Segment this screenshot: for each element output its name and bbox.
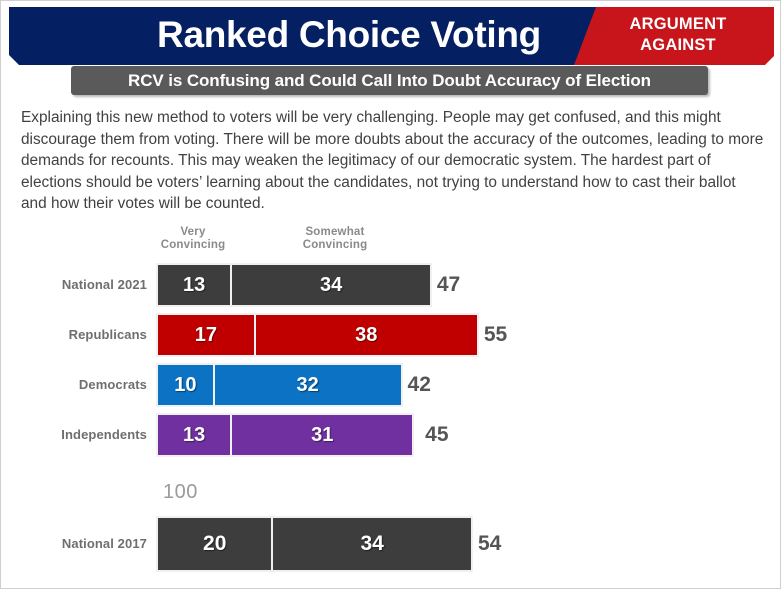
- row-total-label: 45: [420, 413, 448, 457]
- chart-row: Republicans173855: [1, 313, 781, 363]
- stacked-bar: 1331: [156, 413, 414, 457]
- chart-row: National 2017203454: [1, 516, 781, 572]
- argument-against-badge: ARGUMENT AGAINST: [574, 7, 774, 65]
- stacked-bar: 2034: [156, 516, 473, 572]
- stacked-bar: 1032: [156, 363, 403, 407]
- bar-segment-somewhat-convincing: 31: [230, 413, 414, 457]
- bar-segment-somewhat-convincing: 32: [213, 363, 403, 407]
- legend-very-convincing-line1: Very: [154, 226, 232, 239]
- stacked-bar: 1738: [156, 313, 479, 357]
- chart-row: Democrats103242: [1, 363, 781, 413]
- subtitle-text: RCV is Confusing and Could Call Into Dou…: [71, 66, 708, 95]
- bar-segment-very-convincing: 13: [156, 413, 232, 457]
- row-label: National 2021: [1, 263, 147, 307]
- row-label: National 2017: [1, 516, 147, 572]
- body-paragraph: Explaining this new method to voters wil…: [21, 107, 765, 215]
- bar-segment-somewhat-convincing: 34: [230, 263, 432, 307]
- bar-segment-very-convincing: 20: [156, 516, 273, 572]
- slide-canvas: Ranked Choice Voting ARGUMENT AGAINST RC…: [0, 0, 781, 589]
- row-label: Democrats: [1, 363, 147, 407]
- row-total-label: 54: [473, 516, 501, 572]
- row-total-label: 42: [403, 363, 431, 407]
- badge-line-2: AGAINST: [590, 35, 766, 56]
- page-title: Ranked Choice Voting: [79, 7, 619, 65]
- bar-segment-somewhat-convincing: 34: [271, 516, 473, 572]
- chart-row-national-2017: National 2017203454: [1, 516, 781, 572]
- legend-very-convincing: Very Convincing: [154, 226, 232, 252]
- chart-row: National 2021133447: [1, 263, 781, 313]
- subtitle-bar: RCV is Confusing and Could Call Into Dou…: [71, 66, 708, 95]
- bar-segment-very-convincing: 10: [156, 363, 215, 407]
- row-label: Independents: [1, 413, 147, 457]
- row-label: Republicans: [1, 313, 147, 357]
- row-total-label: 47: [432, 263, 460, 307]
- chart-legend: Very Convincing Somewhat Convincing: [1, 223, 781, 263]
- chart-row: Independents133145: [1, 413, 781, 463]
- legend-very-convincing-line2: Convincing: [154, 239, 232, 252]
- argument-against-badge-text: ARGUMENT AGAINST: [590, 14, 766, 56]
- legend-somewhat-convincing: Somewhat Convincing: [269, 226, 401, 252]
- row-total-label: 55: [479, 313, 507, 357]
- legend-somewhat-convincing-line1: Somewhat: [269, 226, 401, 239]
- chart-rows: National 2021133447Republicans173855Demo…: [1, 263, 781, 463]
- axis-note-100: 100: [163, 481, 198, 504]
- stacked-bar: 1334: [156, 263, 432, 307]
- legend-somewhat-convincing-line2: Convincing: [269, 239, 401, 252]
- bar-segment-somewhat-convincing: 38: [254, 313, 479, 357]
- bar-segment-very-convincing: 13: [156, 263, 232, 307]
- stacked-bar-chart: Very Convincing Somewhat Convincing Nati…: [1, 223, 781, 583]
- header-band: Ranked Choice Voting ARGUMENT AGAINST: [9, 7, 774, 65]
- badge-line-1: ARGUMENT: [590, 14, 766, 35]
- bar-segment-very-convincing: 17: [156, 313, 256, 357]
